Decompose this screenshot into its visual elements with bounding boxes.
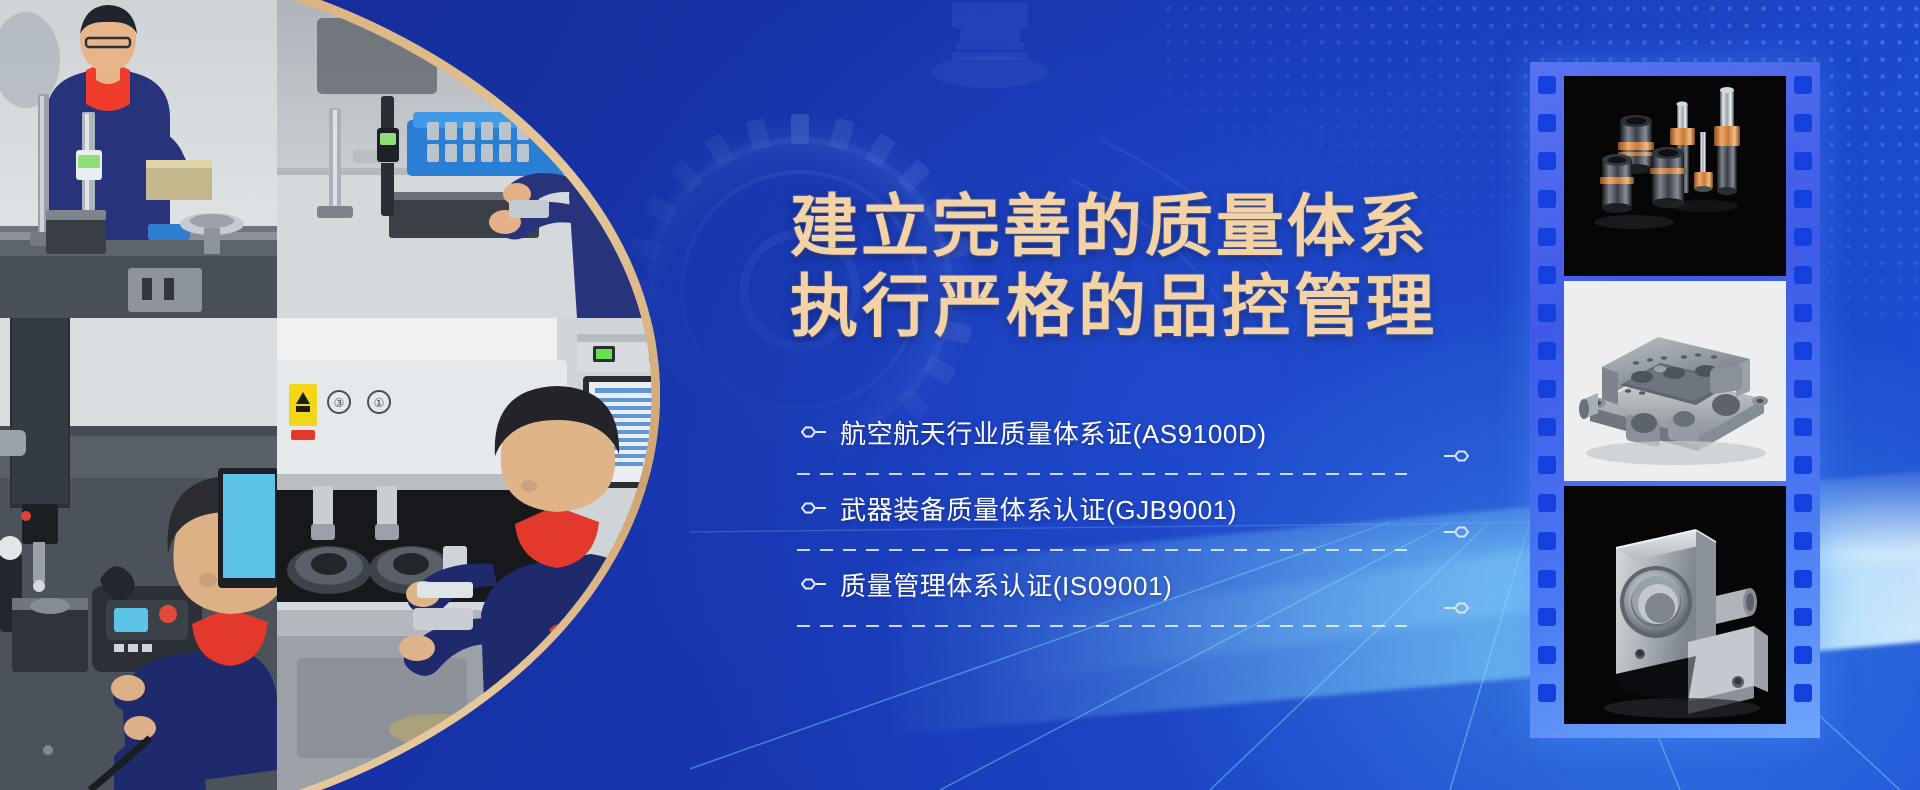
film-perforation <box>1538 456 1556 474</box>
film-perforation <box>1794 342 1812 360</box>
dashed-divider <box>797 625 1407 627</box>
film-perforation <box>1794 76 1812 94</box>
photo-cmm-operator <box>0 318 277 790</box>
film-perforation <box>1794 608 1812 626</box>
film-perforation <box>1538 608 1556 626</box>
product-photo-machined-bearing-block <box>1564 486 1786 724</box>
film-perforation <box>1538 190 1556 208</box>
photo-cnc-machine-operator: ③ ① <box>277 318 700 790</box>
product-photo-precision-shafts-bushings <box>1564 76 1786 276</box>
photo-inspector-height-gauge <box>0 0 277 318</box>
film-perforation <box>1794 456 1812 474</box>
dashed-divider <box>797 473 1407 475</box>
film-perforation <box>1794 532 1812 550</box>
headline-line-2: 执行严格的品控管理 <box>790 268 1490 348</box>
film-perforation <box>1538 114 1556 132</box>
film-perforation <box>1794 114 1812 132</box>
film-perforation <box>1538 532 1556 550</box>
svg-text:③: ③ <box>334 396 345 410</box>
film-perforation <box>1794 494 1812 512</box>
product-photo-aluminum-housing <box>1564 281 1786 481</box>
film-perforation <box>1538 646 1556 664</box>
film-perforation <box>1538 570 1556 588</box>
certification-item[interactable]: 航空航天行业质量体系证(AS9100D) <box>797 406 1457 482</box>
factory-photo-collage: ③ ① <box>0 0 700 790</box>
hexagon-bullet-icon <box>797 576 827 592</box>
film-perforation <box>1794 266 1812 284</box>
film-perforation <box>1538 684 1556 702</box>
film-perforation <box>1538 342 1556 360</box>
hexagon-bullet-icon <box>797 424 827 440</box>
film-perforation <box>1794 152 1812 170</box>
headline-block: 建立完善的质量体系 执行严格的品控管理 <box>790 188 1490 347</box>
film-perforation <box>1538 304 1556 322</box>
photo-technician-measuring-parts <box>277 0 700 318</box>
film-perforation <box>1794 304 1812 322</box>
certification-label: 武器装备质量体系认证(GJB9001) <box>840 490 1237 527</box>
film-perforation <box>1794 190 1812 208</box>
svg-text:①: ① <box>374 396 385 410</box>
hexagon-end-icon <box>1443 600 1473 616</box>
film-perforation <box>1538 76 1556 94</box>
quality-system-banner: ③ ① <box>0 0 1920 790</box>
hexagon-end-icon <box>1443 524 1473 540</box>
film-perforation <box>1538 494 1556 512</box>
film-perforation <box>1538 152 1556 170</box>
film-perforation <box>1538 418 1556 436</box>
certification-item[interactable]: 质量管理体系认证(IS09001) <box>797 558 1457 634</box>
film-perforation <box>1794 418 1812 436</box>
film-perforation <box>1794 228 1812 246</box>
film-perforation <box>1794 646 1812 664</box>
film-perforation <box>1538 228 1556 246</box>
headline-line-1: 建立完善的质量体系 <box>790 188 1490 268</box>
product-filmstrip-panel <box>1530 62 1820 738</box>
film-perforation <box>1794 380 1812 398</box>
certification-label: 航空航天行业质量体系证(AS9100D) <box>840 414 1267 451</box>
film-perforation <box>1538 266 1556 284</box>
certification-list: 航空航天行业质量体系证(AS9100D) 武器装备质量体系认证(GJB9001) <box>797 406 1457 634</box>
dashed-divider <box>797 549 1407 551</box>
hexagon-bullet-icon <box>797 500 827 516</box>
certification-label: 质量管理体系认证(IS09001) <box>840 566 1172 603</box>
film-perforation <box>1538 380 1556 398</box>
film-perforation <box>1794 570 1812 588</box>
film-perforation <box>1794 684 1812 702</box>
certification-item[interactable]: 武器装备质量体系认证(GJB9001) <box>797 482 1457 558</box>
hexagon-end-icon <box>1443 448 1473 464</box>
